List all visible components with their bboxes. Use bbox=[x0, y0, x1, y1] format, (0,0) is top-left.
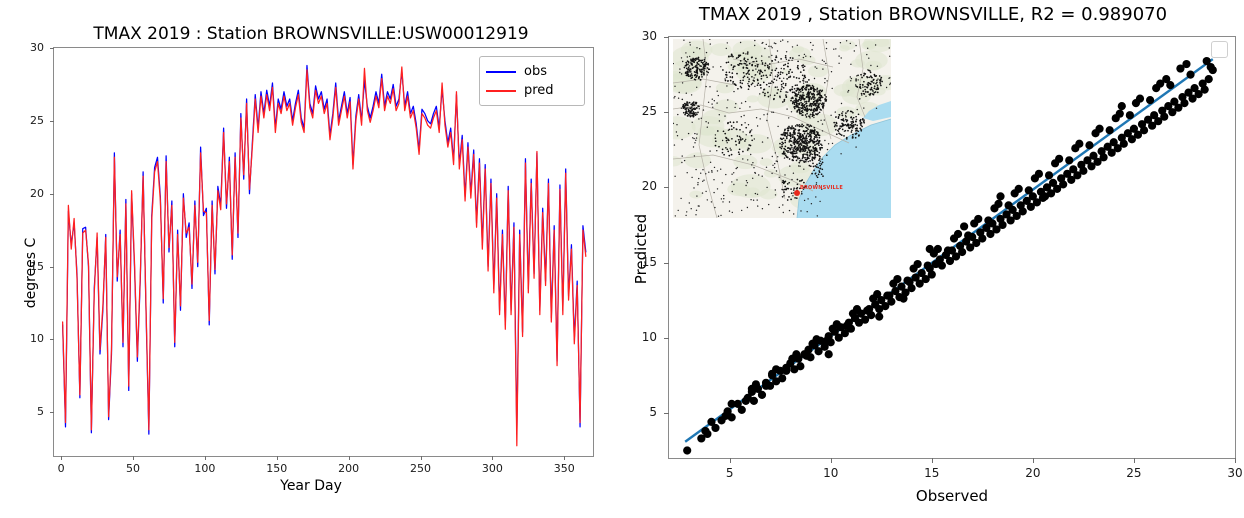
right-y-tickmark bbox=[664, 37, 669, 38]
right-y-tickmark bbox=[664, 413, 669, 414]
right-x-tickmark bbox=[730, 458, 731, 463]
station-map-inset bbox=[673, 39, 891, 218]
right-legend-box bbox=[1211, 41, 1228, 58]
map-station-marker-icon bbox=[794, 190, 800, 196]
right-x-tickmark bbox=[932, 458, 933, 463]
right-y-axis-label: Predicted bbox=[632, 194, 650, 304]
right-y-tick-label: 5 bbox=[625, 405, 657, 419]
right-y-tick-label: 20 bbox=[625, 179, 657, 193]
right-x-tickmark bbox=[831, 458, 832, 463]
right-y-tick-label: 25 bbox=[625, 104, 657, 118]
right-y-tickmark bbox=[664, 338, 669, 339]
right-x-tick-label: 15 bbox=[912, 466, 952, 480]
right-x-axis-label: Observed bbox=[668, 487, 1236, 505]
right-x-tick-label: 30 bbox=[1215, 466, 1244, 480]
right-y-tick-label: 15 bbox=[625, 255, 657, 269]
right-y-tick-label: 30 bbox=[625, 29, 657, 43]
right-x-tick-label: 25 bbox=[1114, 466, 1154, 480]
right-x-tickmark bbox=[1235, 458, 1236, 463]
scatter-panel: TMAX 2019 , Station BROWNSVILLE, R2 = 0.… bbox=[0, 0, 1244, 518]
right-x-tickmark bbox=[1134, 458, 1135, 463]
right-chart-title: TMAX 2019 , Station BROWNSVILLE, R2 = 0.… bbox=[622, 4, 1244, 25]
right-y-tickmark bbox=[664, 263, 669, 264]
right-x-tick-label: 10 bbox=[811, 466, 851, 480]
right-x-tick-label: 5 bbox=[710, 466, 750, 480]
map-station-label: BROWNSVILLE bbox=[800, 185, 843, 191]
right-x-tickmark bbox=[1033, 458, 1034, 463]
right-y-tickmark bbox=[664, 112, 669, 113]
right-x-tick-label: 20 bbox=[1013, 466, 1053, 480]
right-y-tick-label: 10 bbox=[625, 330, 657, 344]
right-y-tickmark bbox=[664, 187, 669, 188]
